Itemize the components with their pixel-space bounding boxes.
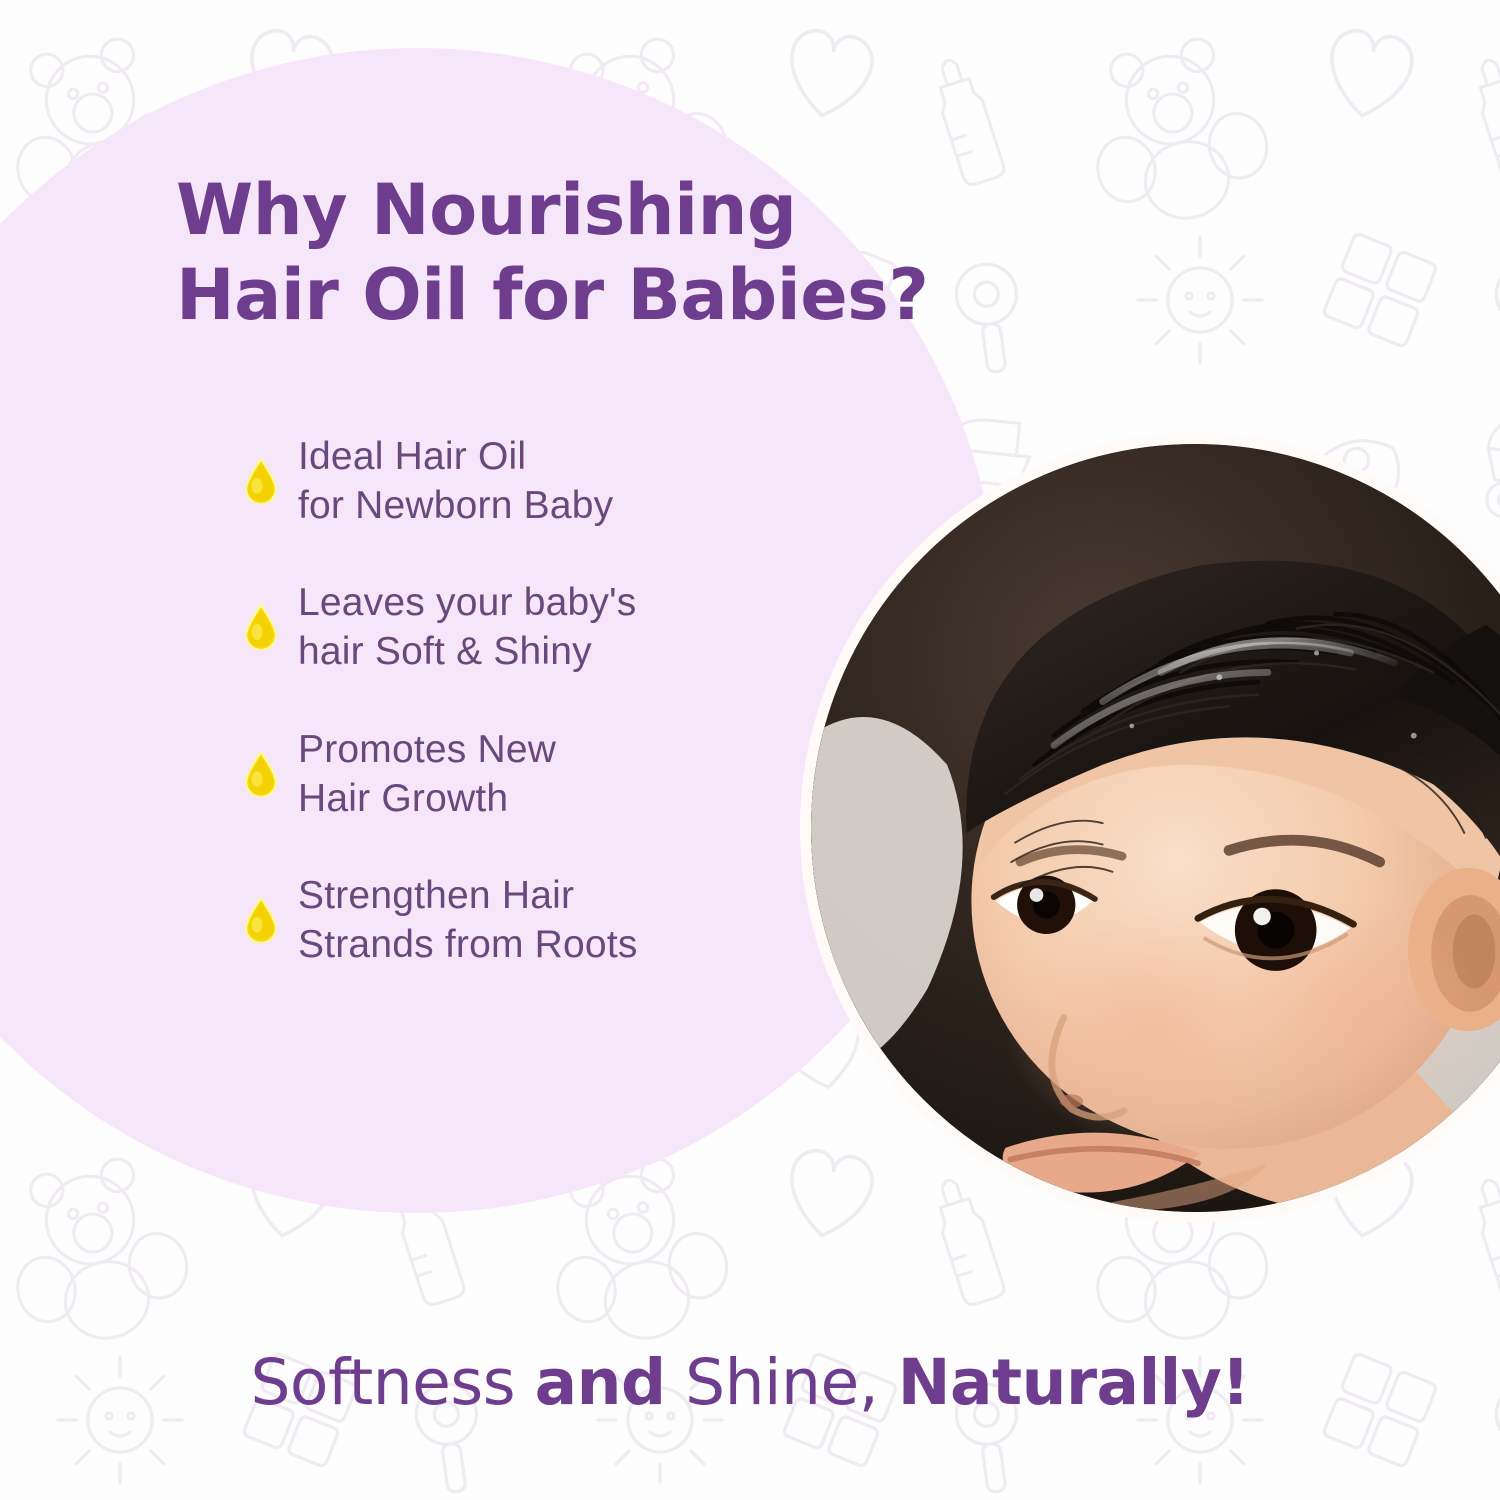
list-item-label: Strengthen Hair Strands from Roots [298, 871, 638, 969]
oil-drop-icon [244, 458, 278, 504]
tagline-part-1: Softness [250, 1346, 534, 1419]
list-item: Strengthen Hair Strands from Roots [244, 871, 804, 969]
oil-drop-icon [244, 897, 278, 943]
tagline-part-2: and [535, 1346, 666, 1419]
list-item: Promotes New Hair Growth [244, 725, 804, 823]
page-title: Why Nourishing Hair Oil for Babies? [176, 168, 996, 339]
tagline-part-3: Shine, [666, 1346, 898, 1419]
page-title-line-2: Hair Oil for Babies? [176, 253, 996, 338]
oil-drop-icon [244, 751, 278, 797]
list-item-label: Leaves your baby's hair Soft & Shiny [298, 578, 636, 676]
tagline-part-4: Naturally! [898, 1346, 1250, 1419]
list-item-label: Promotes New Hair Growth [298, 725, 556, 823]
benefits-list: Ideal Hair Oil for Newborn Baby Leaves y… [244, 432, 804, 969]
promo-banner: Why Nourishing Hair Oil for Babies? Idea… [0, 0, 1500, 1500]
list-item: Leaves your baby's hair Soft & Shiny [244, 578, 804, 676]
page-title-line-1: Why Nourishing [176, 168, 996, 253]
baby-with-oiled-hair-photo [811, 444, 1500, 1212]
list-item: Ideal Hair Oil for Newborn Baby [244, 432, 804, 530]
oil-drop-icon [244, 604, 278, 650]
tagline: Softness and Shine, Naturally! [0, 1346, 1500, 1419]
list-item-label: Ideal Hair Oil for Newborn Baby [298, 432, 613, 530]
